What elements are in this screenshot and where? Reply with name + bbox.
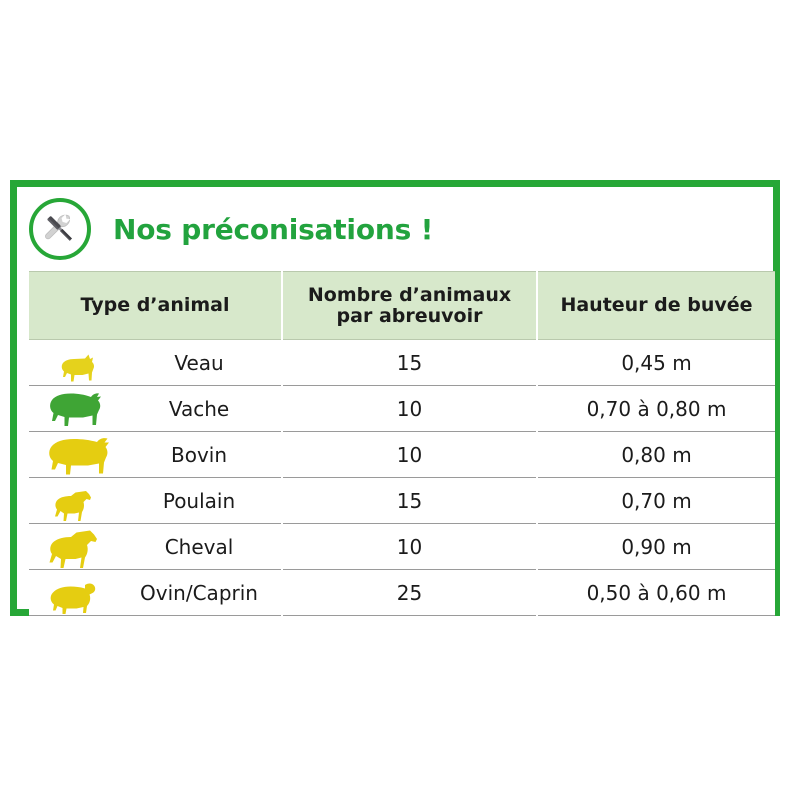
bull-icon [34,434,112,476]
tools-wrench-screwdriver-icon [39,208,81,250]
column-header-count: Nombre d’animaux par abreuvoir [282,272,537,340]
animal-name: Vache [117,386,282,432]
animal-name: Cheval [117,524,282,570]
row-icon-cell [29,478,117,524]
column-header-count-line2: par abreuvoir [337,305,483,327]
horse-icon [44,528,102,568]
row-icon-cell [29,570,117,616]
table-row: Poulain 15 0,70 m [29,478,775,524]
drinking-height: 0,80 m [537,432,775,478]
table-body: Veau 15 0,45 m [29,340,775,616]
animal-count: 10 [282,524,537,570]
row-icon-cell [29,386,117,432]
animal-name: Bovin [117,432,282,478]
animal-count: 10 [282,432,537,478]
animal-count: 10 [282,386,537,432]
table-row: Bovin 10 0,80 m [29,432,775,478]
foal-icon [51,488,95,522]
drinking-height: 0,90 m [537,524,775,570]
header-row: Type d’animal Nombre d’animaux par abreu… [29,272,775,340]
animal-name: Ovin/Caprin [117,570,282,616]
animal-name: Poulain [117,478,282,524]
page-root: Nos préconisations ! Type d’animal Nombr… [0,0,800,800]
table-row: Cheval 10 0,90 m [29,524,775,570]
table-row: Vache 10 0,70 à 0,80 m [29,386,775,432]
drinking-height: 0,70 à 0,80 m [537,386,775,432]
table-row: Ovin/Caprin 25 0,50 à 0,60 m [29,570,775,616]
cow-icon [40,390,106,430]
recommendations-panel: Nos préconisations ! Type d’animal Nombr… [10,180,780,616]
column-header-height: Hauteur de buvée [537,272,775,340]
panel-header: Nos préconisations ! [17,187,773,271]
panel-title: Nos préconisations ! [113,213,433,246]
animal-count: 15 [282,478,537,524]
drinking-height: 0,45 m [537,340,775,386]
animal-count: 25 [282,570,537,616]
tools-badge [29,198,91,260]
drinking-height: 0,70 m [537,478,775,524]
row-icon-cell [29,432,117,478]
animal-name: Veau [117,340,282,386]
row-icon-cell [29,340,117,386]
table-header: Type d’animal Nombre d’animaux par abreu… [29,272,775,340]
table-row: Veau 15 0,45 m [29,340,775,386]
sheep-icon [48,580,98,614]
drinking-height: 0,50 à 0,60 m [537,570,775,616]
column-header-count-line1: Nombre d’animaux [308,284,511,306]
table-container: Type d’animal Nombre d’animaux par abreu… [17,271,773,616]
column-header-type: Type d’animal [29,272,282,340]
animal-count: 15 [282,340,537,386]
row-icon-cell [29,524,117,570]
recommendations-table: Type d’animal Nombre d’animaux par abreu… [29,271,775,616]
calf-icon [50,352,96,384]
